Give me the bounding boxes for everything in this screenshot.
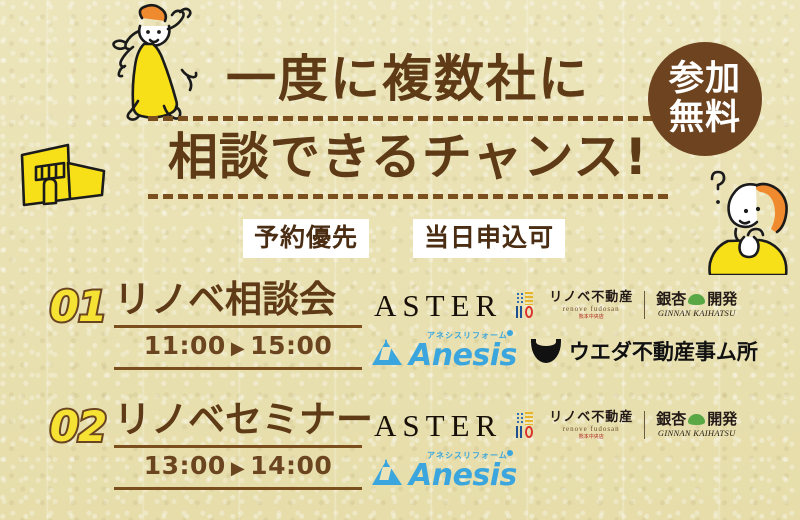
tag-chip-reservation-priority: 予約優先 [243,219,369,258]
ginnan-name-jp-left: 銀杏 [656,412,686,427]
logo-divider [644,411,645,439]
anesis-dot-icon [507,450,513,456]
renove-branch-name: 熊本中央店 [549,435,633,440]
sponsor-logo-row-2: アネシスリフォーム Anesis [372,448,800,494]
ueda-logo: ウエダ不動産事ム所 [531,336,758,366]
ginnan-name-en: GINNAN KAIHATSU [656,429,737,438]
sponsor-logo-row-1: ASTER リノベ不動産 renove fudosan 熊本中央店 [372,402,800,448]
renove-name-jp: リノベ不動産 [549,291,633,304]
event-time-end: 15:00 [250,331,332,360]
anesis-mark-icon [372,457,404,485]
renove-name-en: renove fudosan [549,426,633,433]
anesis-logo: アネシスリフォーム Anesis [372,332,517,371]
free-participation-badge: 参加 無料 [648,42,762,156]
renove-ginnan-logo: リノベ不動産 renove fudosan 熊本中央店 銀杏 開発 GINNAN… [516,291,737,320]
renove-text-block: リノベ不動産 renove fudosan 熊本中央店 [549,411,633,440]
aster-logo: ASTER [372,410,502,441]
time-arrow-icon: ▶ [226,458,250,479]
headline-block: 一度に複数社に 相談できるチャンス! [148,48,668,204]
anesis-name: Anesis [409,341,517,371]
house-illustration [8,133,112,217]
anesis-text-block: アネシスリフォーム Anesis [409,332,517,371]
event-number-badge: 01 [44,278,112,330]
anesis-dot-icon [507,330,513,336]
headline-line-2: 相談できるチャンス! [148,126,668,188]
ginkgo-leaf-icon [688,414,705,425]
event-title: リノベ相談会 [114,278,364,322]
sponsor-logo-area: ASTER リノベ不動産 renove fudosan 熊本中央店 [372,278,800,374]
ginnan-name-jp: 銀杏 開発 [656,292,737,307]
dashed-divider-bottom [148,194,668,199]
event-time-box: 11:00▶15:00 [114,325,362,370]
renove-name-jp: リノベ不動産 [549,411,633,424]
sponsor-logo-area: ASTER リノベ不動産 renove fudosan 熊本中央店 [372,398,800,494]
renove-name-en: renove fudosan [549,306,633,313]
event-promo-banner: 一度に複数社に 相談できるチャンス! 参加 無料 予約優先 当日申込可 [0,0,800,520]
tag-chip-group: 予約優先 当日申込可 [243,219,565,258]
renove-mark-icon [516,292,542,318]
free-badge-line-2: 無料 [669,99,741,138]
event-main-info: リノベセミナー 13:00▶14:00 [114,398,364,490]
headline-line-1: 一度に複数社に [148,48,668,110]
time-arrow-icon: ▶ [226,338,250,359]
ginnan-name-jp-left: 銀杏 [656,292,686,307]
ginnan-name-jp-right: 開発 [707,292,737,307]
event-time-start: 11:00 [144,331,226,360]
event-row: 02 リノベセミナー 13:00▶14:00 ASTER [0,398,800,508]
event-time-box: 13:00▶14:00 [114,445,362,490]
logo-divider [644,291,645,319]
event-main-info: リノベ相談会 11:00▶15:00 [114,278,364,370]
event-row: 01 リノベ相談会 11:00▶15:00 ASTER [0,278,800,388]
anesis-text-block: アネシスリフォーム Anesis [409,452,517,491]
ueda-name: ウエダ不動産事ム所 [569,336,758,366]
renove-text-block: リノベ不動産 renove fudosan 熊本中央店 [549,291,633,320]
anesis-logo: アネシスリフォーム Anesis [372,452,517,491]
ginnan-name-en: GINNAN KAIHATSU [656,309,737,318]
anesis-name: Anesis [409,461,517,491]
sponsor-logo-row-1: ASTER リノベ不動産 renove fudosan 熊本中央店 [372,282,800,328]
dashed-divider-top [148,116,668,121]
renove-mark-icon [516,412,542,438]
ginnan-text-block: 銀杏 開発 GINNAN KAIHATSU [656,292,737,318]
thinking-girl-illustration [698,163,800,275]
sponsor-logo-row-2: アネシスリフォーム Anesis ウエダ不動産事ム所 [372,328,800,374]
event-title: リノベセミナー [114,398,364,442]
ginnan-text-block: 銀杏 開発 GINNAN KAIHATSU [656,412,737,438]
renove-ginnan-logo: リノベ不動産 renove fudosan 熊本中央店 銀杏 開発 GINNAN… [516,411,737,440]
ueda-mark-icon [531,339,561,363]
event-time-end: 14:00 [250,451,332,480]
ginnan-name-jp: 銀杏 開発 [656,412,737,427]
free-badge-line-1: 参加 [669,60,741,99]
ginkgo-leaf-icon [688,294,705,305]
renove-branch-name: 熊本中央店 [549,315,633,320]
anesis-mark-icon [372,337,404,365]
tag-chip-walkin-ok: 当日申込可 [413,219,565,258]
ginnan-name-jp-right: 開発 [707,412,737,427]
event-time-start: 13:00 [144,451,226,480]
aster-logo: ASTER [372,290,502,321]
event-number-badge: 02 [44,398,112,450]
